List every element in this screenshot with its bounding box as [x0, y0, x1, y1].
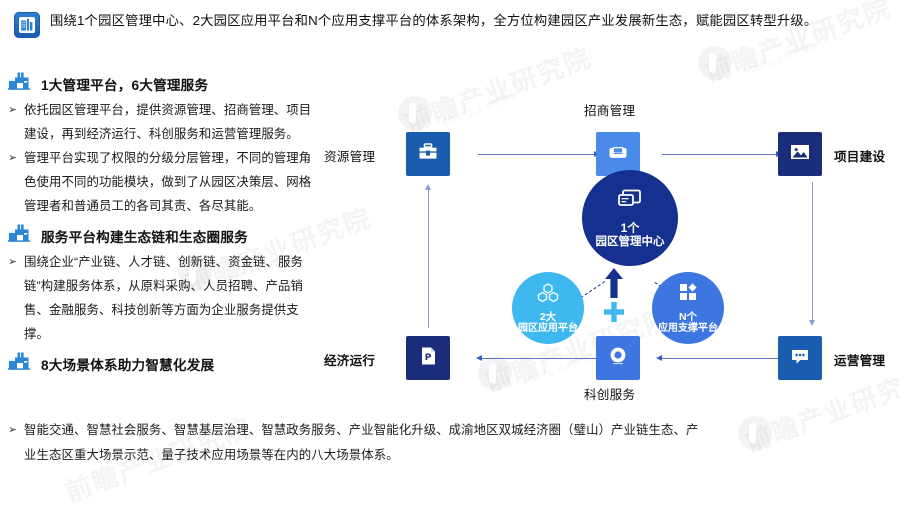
arrow-head-icon [425, 184, 431, 190]
list-item: ➢ 管理平台实现了权限的分级分层管理，不同的管理角色使用不同的功能模块，做到了从… [8, 146, 320, 218]
section-service-platform: 服务平台构建生态链和生态圈服务 ➢ 围绕企业“产业链、人才链、创新链、资金链、服… [8, 224, 320, 346]
tile-project-construction[interactable] [778, 132, 822, 176]
bullet-arrow-icon: ➢ [8, 418, 19, 468]
tile-economic-operation[interactable]: P [406, 336, 450, 380]
tile-label-innovation-service: 科创服务 [584, 384, 635, 403]
platform-node-support[interactable]: N个 应用支撑平台 [652, 272, 724, 344]
section-management-platform: 1大管理平台，6大管理服务 ➢ 依托园区管理平台，提供资源管理、招商管理、项目建… [8, 72, 320, 218]
tile-label-economic-operation: 经济运行 [324, 350, 375, 369]
list-item: ➢ 依托园区管理平台，提供资源管理、招商管理、项目建设，再到经济运行、科创服务和… [8, 98, 320, 146]
arrow-head-icon [476, 355, 482, 361]
tile-label-operation-management: 运营管理 [834, 350, 885, 369]
toolbox-icon [416, 140, 440, 169]
list-item: ➢ 智能交通、智慧社会服务、智慧基层治理、智慧政务服务、产业智能化升级、成渝地区… [8, 418, 708, 468]
platform-node-name: 园区应用平台 [518, 323, 578, 335]
factory-icon [8, 352, 32, 375]
bullet-arrow-icon: ➢ [8, 98, 19, 146]
arrow-head-icon [656, 355, 662, 361]
svg-text:P: P [425, 353, 432, 363]
platform-node-name: 应用支撑平台 [658, 323, 718, 335]
connector-line [428, 190, 429, 328]
header-text: 围绕1个园区管理中心、2大园区应用平台和N个应用支撑平台的体系架构，全方位构建园… [50, 10, 817, 32]
up-arrow-icon [604, 268, 624, 303]
building-icon [14, 12, 40, 38]
list-item-text: 围绕企业“产业链、人才链、创新链、资金链、服务链”构建服务体系，从原料采购、人员… [24, 250, 320, 346]
document-p-icon: P [416, 344, 440, 373]
cubes-icon [535, 282, 561, 309]
platform-node-count: 2大 [540, 311, 556, 323]
connector-line [482, 358, 598, 359]
sofa-icon [606, 141, 630, 168]
watermark-subtext: 中国产业咨询领导者 [741, 40, 821, 78]
tile-label-investment-management: 招商管理 [584, 100, 635, 119]
connector-line [812, 182, 813, 322]
header: 围绕1个园区管理中心、2大园区应用平台和N个应用支撑平台的体系架构，全方位构建园… [14, 10, 886, 38]
section-scenarios: 8大场景体系助力智慧化发展 [8, 352, 320, 375]
section-header: 服务平台构建生态链和生态圈服务 [8, 224, 320, 247]
tile-innovation-service[interactable] [596, 336, 640, 380]
scenarios-detail: ➢ 智能交通、智慧社会服务、智慧基层治理、智慧政务服务、产业智能化升级、成渝地区… [8, 418, 708, 468]
connector-line [662, 154, 778, 155]
tile-resource-management[interactable] [406, 132, 450, 176]
watermark-logo-icon [698, 46, 732, 80]
picture-icon [788, 141, 812, 168]
plus-icon [602, 300, 626, 329]
center-node-management-center[interactable]: 1个 园区管理中心 [582, 170, 678, 266]
connector-line [662, 358, 778, 359]
list-item: ➢ 围绕企业“产业链、人才链、创新链、资金链、服务链”构建服务体系，从原料采购、… [8, 250, 320, 346]
grid-icon [676, 281, 700, 308]
bullet-arrow-icon: ➢ [8, 250, 19, 346]
bullet-arrow-icon: ➢ [8, 146, 19, 218]
circle-target-icon [605, 343, 631, 374]
section-header: 1大管理平台，6大管理服务 [8, 72, 320, 95]
section-header: 8大场景体系助力智慧化发展 [8, 352, 320, 375]
section-title: 1大管理平台，6大管理服务 [41, 74, 208, 94]
connector-line [478, 154, 596, 155]
infographic-page: 前瞻产业研究院 前瞻产业研究院 前瞻产业研究院 前瞻产业研究院 前瞻产业研究院 … [0, 0, 900, 502]
watermark-logo-icon [738, 416, 772, 450]
center-node-count: 1个 [621, 221, 640, 235]
center-node-name: 园区管理中心 [596, 235, 665, 249]
tile-label-resource-management: 资源管理 [324, 146, 375, 165]
architecture-diagram: 资源管理 招商管理 项目建设 [310, 86, 900, 416]
platform-node-application[interactable]: 2大 园区应用平台 [512, 272, 584, 344]
list-item-text: 智能交通、智慧社会服务、智慧基层治理、智慧政务服务、产业智能化升级、成渝地区双城… [24, 418, 708, 468]
section-title: 8大场景体系助力智慧化发展 [41, 354, 214, 374]
platform-node-count: N个 [679, 311, 697, 323]
left-column: 1大管理平台，6大管理服务 ➢ 依托园区管理平台，提供资源管理、招商管理、项目建… [8, 72, 320, 378]
chat-dots-icon [788, 345, 812, 372]
section-title: 服务平台构建生态链和生态圈服务 [41, 226, 248, 246]
list-item-text: 管理平台实现了权限的分级分层管理，不同的管理角色使用不同的功能模块，做到了从园区… [24, 146, 320, 218]
list-item-text: 依托园区管理平台，提供资源管理、招商管理、项目建设，再到经济运行、科创服务和运营… [24, 98, 320, 146]
factory-icon [8, 224, 32, 247]
arrow-head-icon [809, 320, 815, 326]
screen-icon [615, 188, 645, 217]
factory-icon [8, 72, 32, 95]
tile-operation-management[interactable] [778, 336, 822, 380]
tile-label-project-construction: 项目建设 [834, 146, 885, 165]
